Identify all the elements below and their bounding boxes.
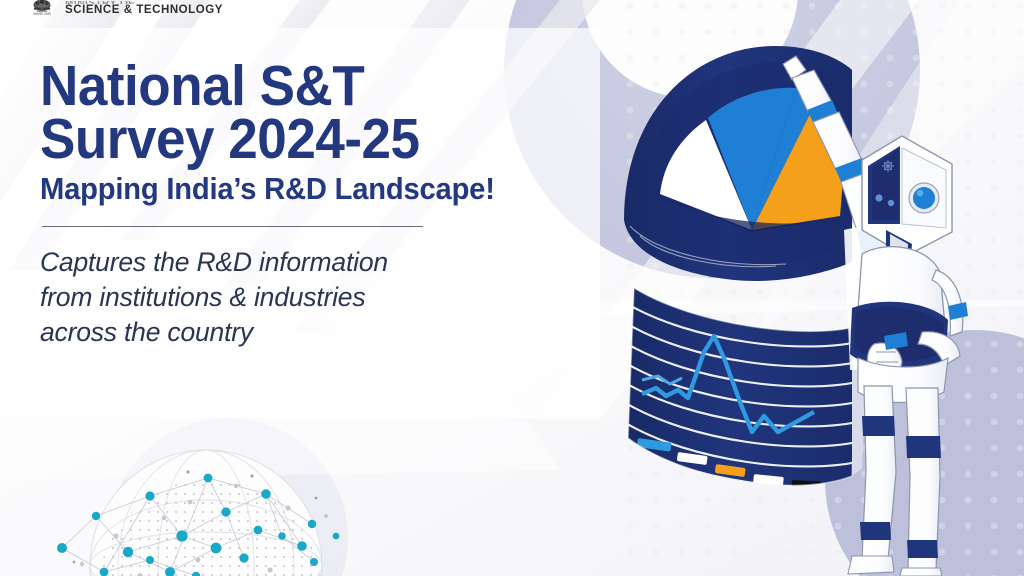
department-title: MINISTRY OF SCIENCE & TECHNOLOGY bbox=[65, 1, 223, 16]
network-globe-graphic bbox=[30, 420, 360, 576]
robot-analyst-illustration bbox=[600, 40, 1024, 576]
india-national-emblem-icon: सत्यमेव जयते bbox=[28, 0, 56, 20]
hero-description-line-3: across the country bbox=[40, 315, 560, 350]
curved-dashboard-panel bbox=[622, 288, 868, 491]
page-subtitle: Mapping India’s R&D Landscape! bbox=[40, 173, 529, 204]
robot-body bbox=[848, 247, 968, 576]
page-title: National S&T Survey 2024-25 bbox=[40, 60, 524, 166]
divider bbox=[42, 226, 423, 227]
hero-text-block: National S&T Survey 2024-25 Mapping Indi… bbox=[40, 60, 560, 351]
emblem-motto-text: सत्यमेव जयते bbox=[33, 11, 51, 16]
hero-description-line-2: from institutions & industries bbox=[40, 280, 560, 315]
banner-canvas: सत्यमेव जयते MINISTRY OF SCIENCE & TECHN… bbox=[0, 0, 1024, 576]
banner-header: सत्यमेव जयते MINISTRY OF SCIENCE & TECHN… bbox=[0, 0, 1024, 22]
ministry-line: MINISTRY OF bbox=[65, 1, 223, 4]
hero-description: Captures the R&D information from instit… bbox=[40, 245, 560, 351]
department-label: SCIENCE & TECHNOLOGY bbox=[65, 4, 223, 16]
page-title-line-2: Survey 2024-25 bbox=[40, 113, 524, 166]
hero-description-line-1: Captures the R&D information bbox=[40, 245, 560, 280]
